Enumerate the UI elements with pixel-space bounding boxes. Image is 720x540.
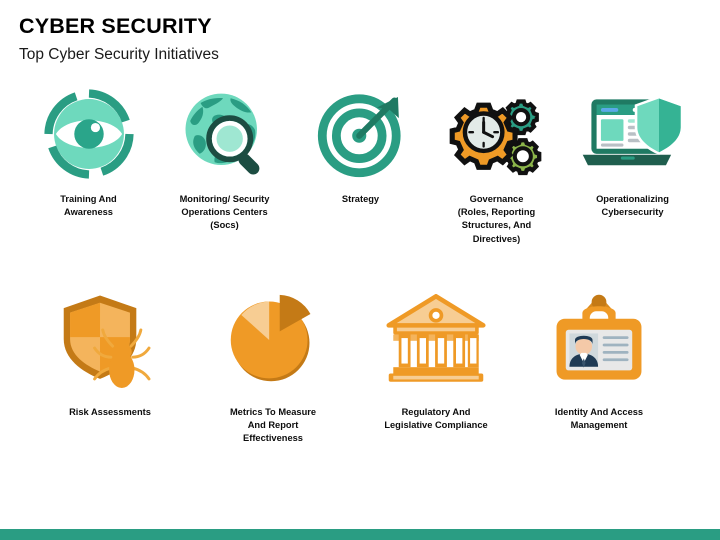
icon-container [317, 86, 405, 182]
initiative-operationalizing-cybersecurity[interactable]: Operationalizing Cybersecurity [566, 86, 699, 246]
initiative-identity-and-access-management[interactable]: Identity And Access Management [519, 286, 679, 446]
icon-container [178, 86, 272, 182]
pie-chart-icon [225, 291, 321, 387]
bottom-accent-bar [0, 529, 720, 540]
initiative-label: Training And Awareness [28, 193, 150, 219]
gears-clock-icon [448, 88, 546, 180]
bank-building-icon [386, 294, 486, 384]
globe-magnifier-icon [178, 87, 272, 181]
icon-container [448, 86, 546, 182]
icon-container [549, 286, 649, 392]
initiatives-row-two: Risk Assessments Metrics To Measure And … [30, 286, 690, 446]
initiative-label: Identity And Access Management [524, 406, 674, 432]
initiative-label: Operationalizing Cybersecurity [572, 193, 694, 219]
eye-scan-icon [43, 88, 135, 180]
target-arrow-icon [317, 90, 405, 178]
initiative-label: Governance (Roles, Reporting Structures,… [436, 193, 558, 246]
initiative-label: Regulatory And Legislative Compliance [361, 406, 511, 432]
shield-bug-icon [60, 290, 160, 388]
initiative-training-and-awareness[interactable]: Training And Awareness [22, 86, 155, 246]
page-subtitle: Top Cyber Security Initiatives [19, 46, 699, 64]
initiative-monitoring-security-operations-centers[interactable]: Monitoring/ Security Operations Centers … [158, 86, 291, 246]
laptop-shield-icon [581, 92, 685, 176]
icon-container [60, 286, 160, 392]
initiative-risk-assessments[interactable]: Risk Assessments [30, 286, 190, 446]
icon-container [43, 86, 135, 182]
initiative-label: Risk Assessments [35, 406, 185, 419]
icon-container [386, 286, 486, 392]
icon-container [225, 286, 321, 392]
id-badge-icon [549, 291, 649, 387]
page-title: CYBER SECURITY [19, 14, 699, 39]
initiative-regulatory-and-legislative-compliance[interactable]: Regulatory And Legislative Compliance [356, 286, 516, 446]
initiative-governance[interactable]: Governance (Roles, Reporting Structures,… [430, 86, 563, 246]
initiative-label: Monitoring/ Security Operations Centers … [164, 193, 286, 233]
initiatives-row-one: Training And Awareness [22, 86, 712, 246]
initiative-label: Strategy [300, 193, 422, 206]
header: CYBER SECURITY Top Cyber Security Initia… [19, 14, 699, 64]
initiative-label: Metrics To Measure And Report Effectiven… [198, 406, 348, 446]
initiative-strategy[interactable]: Strategy [294, 86, 427, 246]
initiative-metrics-to-measure-and-report-effectiveness[interactable]: Metrics To Measure And Report Effectiven… [193, 286, 353, 446]
icon-container [581, 86, 685, 182]
